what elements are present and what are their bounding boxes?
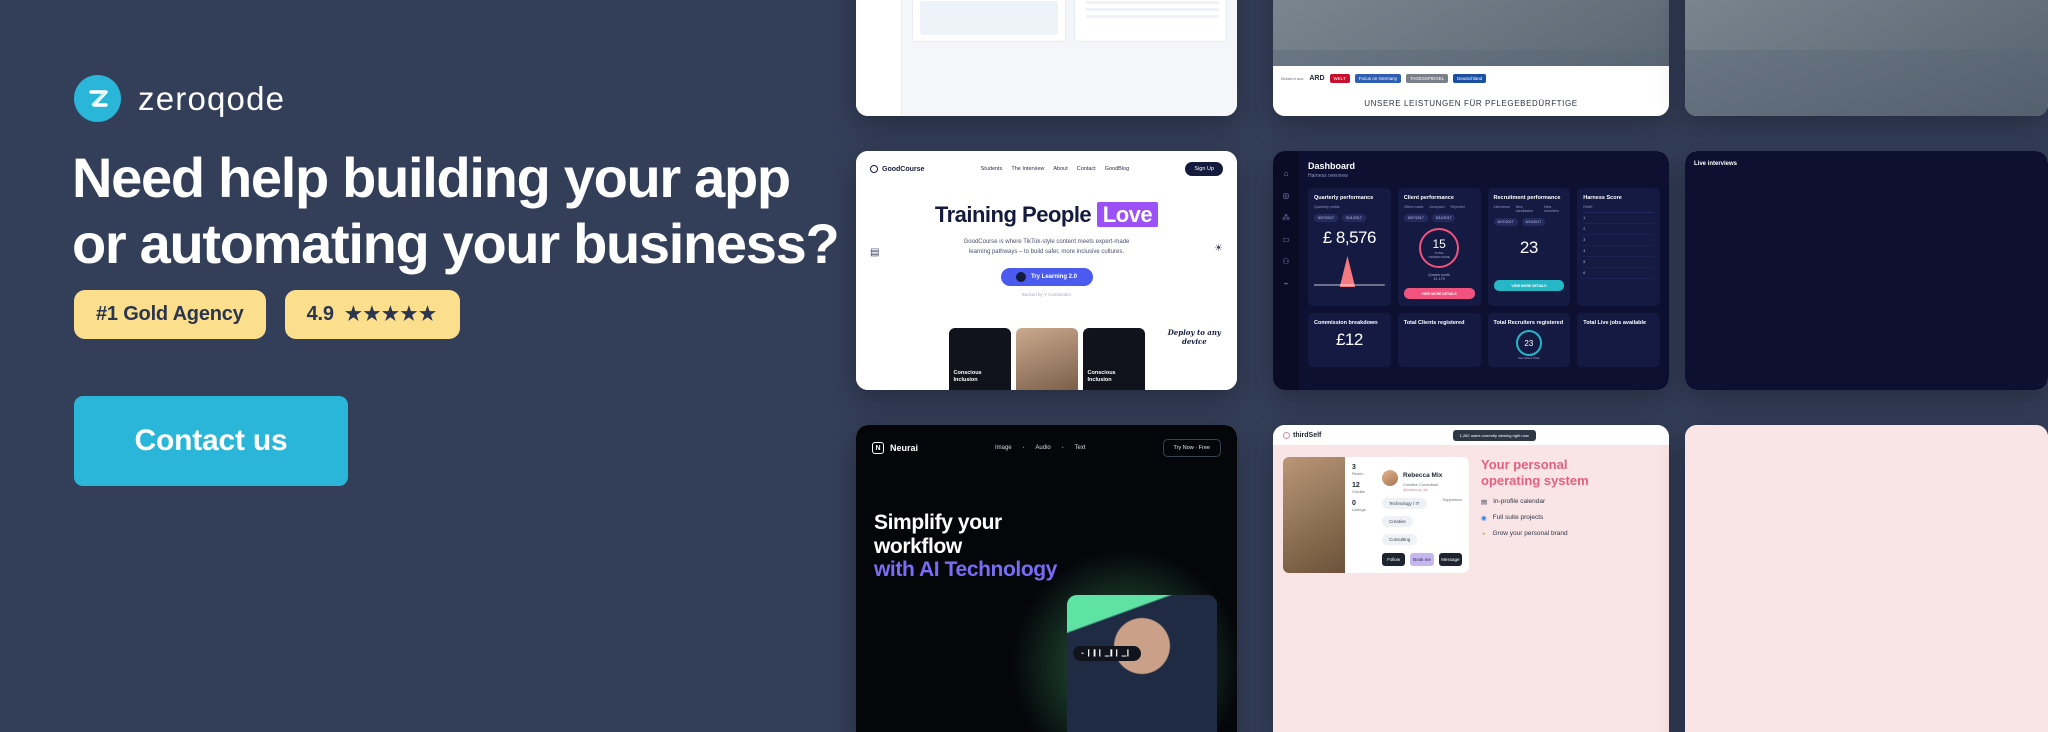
- thirdself-navbar: thirdSelf 1,262 users currently viewing …: [1273, 425, 1669, 445]
- profile-photo: [1283, 457, 1345, 573]
- showcase-card-middle-right-extra[interactable]: Live interviews: [1685, 151, 2048, 390]
- thirdself-headline-line-1: Your personal: [1481, 457, 1659, 473]
- offers-made-ring: 15 TOTAL OFFERS MADE: [1419, 228, 1459, 268]
- thirdself-brand-label: thirdSelf: [1293, 432, 1321, 439]
- feature-brand-label: Grow your personal brand: [1492, 530, 1567, 537]
- table-row: [1082, 15, 1220, 18]
- book-me-button[interactable]: Book me: [1410, 553, 1433, 566]
- neurai-portrait: [1067, 595, 1217, 732]
- quarterly-value: £ 8,576: [1314, 228, 1385, 248]
- neurai-brand-label: Neurai: [890, 443, 918, 453]
- nav-item-audio[interactable]: Audio: [1035, 445, 1050, 451]
- feature-projects-label: Full suite projects: [1493, 514, 1544, 521]
- badge-rating[interactable]: 4.9 ★★★★★: [285, 290, 460, 339]
- message-button[interactable]: Message: [1439, 553, 1462, 566]
- press-chip: WELT: [1330, 74, 1350, 83]
- transactions-chart: [920, 1, 1058, 35]
- press-chip: Focus on Germany: [1355, 74, 1401, 83]
- supporters-label: Supporters: [1442, 497, 1462, 502]
- neurai-nav-links: Image • Audio • Text: [995, 445, 1086, 451]
- showcase-card-goodcourse[interactable]: GoodCourse Students The Interview About …: [856, 151, 1237, 390]
- thirdself-logo-icon: [1283, 432, 1290, 439]
- harness-title: Dashboard: [1308, 161, 1660, 171]
- feature-brand: ✦ Grow your personal brand: [1481, 530, 1659, 538]
- panel-client-performance: Client performance Offers made Accepted …: [1398, 188, 1481, 306]
- showcase-card-harness[interactable]: ⌂ ◎ ⁂ ▭ ⚇ ⌁ Dashboard Harness overview Q…: [1273, 151, 1669, 390]
- network-icon[interactable]: ⁂: [1282, 213, 1290, 222]
- table-row: 3: [1583, 235, 1654, 246]
- zeroqode-logo-icon: [74, 75, 121, 122]
- headline-line-2: or automating your business?: [72, 216, 852, 272]
- hero-left-panel: zeroqode Need help building your app or …: [0, 0, 856, 732]
- neurai-site: N Neurai Image • Audio • Text Try Now · …: [856, 425, 1237, 732]
- ard-logo-icon: ARD: [1309, 75, 1324, 82]
- neurai-headline-line-3: with AI Technology: [874, 558, 1057, 582]
- panel-recruitment-performance: Recruitment performance Interviews New c…: [1488, 188, 1571, 306]
- tab-new-recruiters[interactable]: New recruiters: [1544, 205, 1564, 213]
- annotation-personalise-line-2: any course: [872, 159, 1237, 167]
- neurai-logo-icon: N: [872, 442, 884, 454]
- page-title: Need help building your app or automatin…: [72, 150, 852, 272]
- total-recruiters-sub: Recruiters Total: [1494, 356, 1565, 360]
- total-clients-title: Total Clients registered: [1404, 320, 1475, 326]
- tab-interviews[interactable]: Interviews: [1494, 205, 1510, 213]
- tab-offers-made[interactable]: Offers made: [1404, 205, 1424, 209]
- profile-stats: 3 Reach 12 Credits 0 Listings: [1352, 464, 1376, 512]
- showcase-card-crypto[interactable]: Overview Wallets Markets News More Asset…: [856, 0, 1237, 116]
- profile-name: Rebecca Mix: [1403, 472, 1442, 479]
- tab-new-candidates[interactable]: New candidates: [1516, 205, 1538, 213]
- thirdself-body: 3 Reach 12 Credits 0 Listings: [1273, 445, 1669, 585]
- nav-separator-icon: •: [1062, 445, 1064, 451]
- feature-calendar: ▤ In-profile calendar: [1481, 498, 1659, 506]
- quarter-worth-value: £1,175: [1404, 277, 1475, 281]
- thirdself-headline: Your personal operating system: [1481, 457, 1659, 490]
- stat-listings-value: 0: [1352, 500, 1376, 507]
- briefcase-icon[interactable]: ▭: [1282, 235, 1290, 244]
- total-recruiters-title: Total Recruiters registered: [1494, 320, 1565, 326]
- client-view-more-button[interactable]: VIEW MORE DETAILS: [1404, 288, 1475, 299]
- people-icon[interactable]: ⚇: [1282, 257, 1289, 266]
- table-row: [1082, 1, 1220, 4]
- annotation-personalise-line-1: Personalise: [872, 151, 1237, 159]
- quarterly-peak-chart: [1314, 253, 1385, 287]
- harness-main: Dashboard Harness overview Quarterly per…: [1299, 151, 1669, 390]
- tab-quarterly-profits[interactable]: Quarterly profits: [1314, 205, 1340, 209]
- neurai-headline: Simplify your workflow with AI Technolog…: [874, 511, 1057, 582]
- panel-commission-breakdown: Commission breakdown £12: [1308, 313, 1391, 367]
- commission-breakdown-title: Commission breakdown: [1314, 320, 1385, 326]
- press-logo-strip: Bekannt aus: ARD WELT Focus on Germany T…: [1273, 66, 1669, 90]
- nav-item-text[interactable]: Text: [1075, 445, 1086, 451]
- panel-harness-score: Harness Score RANK 1 2 3 4 5 6: [1577, 188, 1660, 306]
- spiral-icon: ◉: [1481, 514, 1487, 522]
- rank-value: 3: [1583, 238, 1585, 242]
- profile-info: 3 Reach 12 Credits 0 Listings: [1345, 457, 1469, 573]
- thirdself-site: thirdSelf 1,262 users currently viewing …: [1273, 425, 1669, 732]
- profile-card: 3 Reach 12 Credits 0 Listings: [1283, 457, 1469, 573]
- care-site-secondary: [1685, 0, 2048, 116]
- rank-column-header: RANK: [1583, 205, 1654, 213]
- table-row: 1: [1583, 213, 1654, 224]
- neurai-brand[interactable]: N Neurai: [872, 442, 918, 454]
- date-from-recruitment[interactable]: 5/07/2017: [1494, 218, 1518, 226]
- offers-made-value: 15: [1432, 237, 1445, 251]
- harness-sidebar: ⌂ ◎ ⁂ ▭ ⚇ ⌁: [1273, 151, 1299, 390]
- panel-total-recruiters: Total Recruiters registered 23 Recruiter…: [1488, 313, 1571, 367]
- neurai-headline-line-1: Simplify your: [874, 511, 1057, 535]
- stat-reach-label: Reach: [1352, 471, 1364, 476]
- feature-projects: ◉ Full suite projects: [1481, 514, 1659, 522]
- care-caption: UNSERE LEISTUNGEN FÜR PFLEGEBEDÜRFTIGE: [1273, 90, 1669, 116]
- stat-credits-label: Credits: [1352, 489, 1365, 494]
- rank-value: 6: [1583, 271, 1585, 275]
- try-now-free-button[interactable]: Try Now · Free: [1163, 439, 1221, 457]
- nav-item-image[interactable]: Image: [995, 445, 1012, 451]
- showcase-card-care[interactable]: Bekannt aus: ARD WELT Focus on Germany T…: [1273, 0, 1669, 116]
- panel-quarterly-title: Quarterly performance: [1314, 195, 1385, 201]
- profile-actions: Follow Book me Message: [1382, 553, 1462, 566]
- recruitment-view-more-button[interactable]: VIEW MORE DETAILS: [1494, 280, 1565, 291]
- tab-accepted[interactable]: Accepted: [1429, 205, 1444, 209]
- thirdself-brand[interactable]: thirdSelf: [1283, 432, 1321, 439]
- crypto-dashboard: Overview Wallets Markets News More Asset…: [856, 0, 1237, 116]
- stat-listings-label: Listings: [1352, 507, 1366, 512]
- home-icon[interactable]: ⌂: [1284, 169, 1289, 178]
- crypto-panel-momentum: Momentum sections: [1074, 0, 1228, 42]
- avatar: [1382, 470, 1398, 486]
- date-to-recruitment[interactable]: 5/11/2017: [1522, 218, 1546, 226]
- date-from-client[interactable]: 5/07/2017: [1404, 214, 1428, 222]
- tag-consulting[interactable]: Consulting: [1382, 534, 1417, 545]
- showcase-card-top-right-extra[interactable]: [1685, 0, 2048, 116]
- date-from-quarterly[interactable]: 5/07/2017: [1314, 214, 1338, 222]
- commission-breakdown-value: £12: [1314, 330, 1385, 350]
- contact-us-button[interactable]: Contact us: [74, 396, 348, 486]
- neurai-navbar: N Neurai Image • Audio • Text Try Now · …: [856, 425, 1237, 457]
- press-chip: Deutschland: [1453, 74, 1486, 83]
- calendar-icon: ▤: [1481, 498, 1487, 506]
- neurai-headline-line-2: workflow: [874, 535, 1057, 559]
- table-row: 4: [1583, 246, 1654, 257]
- panel-recruitment-title: Recruitment performance: [1494, 195, 1565, 201]
- harness-continued-main: Live interviews: [1685, 151, 2048, 390]
- panel-harness-score-title: Harness Score: [1583, 195, 1654, 201]
- tag-technology[interactable]: Technology / IT: [1382, 498, 1427, 509]
- table-row: 2: [1583, 224, 1654, 235]
- rank-value: 5: [1583, 260, 1585, 264]
- care-hero-photo: [1273, 0, 1669, 50]
- thirdself-headline-line-2: operating system: [1481, 473, 1659, 489]
- crypto-panel-transactions: Latest transactions: [912, 0, 1066, 42]
- offers-made-label-2: OFFERS MADE: [1428, 255, 1450, 259]
- goodcourse-site: GoodCourse Students The Interview About …: [856, 151, 1237, 390]
- total-live-jobs-title: Total Live jobs available: [1583, 320, 1654, 326]
- tab-rejected[interactable]: Rejected: [1450, 205, 1464, 209]
- live-viewers-banner: 1,262 users currently viewing right now: [1453, 430, 1536, 441]
- harness-panels: Quarterly performance Quarterly profits …: [1308, 188, 1660, 306]
- panel-quarterly-performance: Quarterly performance Quarterly profits …: [1308, 188, 1391, 306]
- target-icon[interactable]: ◎: [1283, 191, 1290, 200]
- brand-logo[interactable]: zeroqode: [74, 75, 285, 122]
- hero-page: zeroqode Need help building your app or …: [0, 0, 2048, 732]
- tag-creative[interactable]: Creative: [1382, 516, 1413, 527]
- table-row: [1082, 8, 1220, 11]
- panel-total-clients: Total Clients registered: [1398, 313, 1481, 367]
- star-rating-icon: ★★★★★: [345, 303, 438, 326]
- crypto-sidebar: Overview Wallets Markets News More: [856, 0, 902, 116]
- chart-icon[interactable]: ⌁: [1284, 279, 1289, 288]
- date-to-quarterly[interactable]: 5/11/2017: [1342, 214, 1366, 222]
- care-site: Bekannt aus: ARD WELT Focus on Germany T…: [1273, 0, 1669, 116]
- table-row: 5: [1583, 257, 1654, 268]
- harness-dashboard: ⌂ ◎ ⁂ ▭ ⚇ ⌁ Dashboard Harness overview Q…: [1273, 151, 1669, 390]
- press-chip: TAGESSPIEGEL: [1406, 74, 1448, 83]
- showcase-grid: Overview Wallets Markets News More Asset…: [856, 0, 2048, 732]
- thirdself-site-continued: [1685, 425, 2048, 732]
- crypto-main: Assets Matic $0.47 BTC $2.4 ETH: [902, 0, 1237, 116]
- thirdself-copy: Your personal operating system ▤ In-prof…: [1481, 457, 1659, 573]
- table-row: 6: [1583, 268, 1654, 279]
- rank-value: 1: [1583, 216, 1585, 220]
- badge-rating-value: 4.9: [307, 303, 334, 326]
- recruitment-value: 23: [1494, 238, 1565, 258]
- care-hero-photo-secondary: [1685, 0, 2048, 50]
- stat-credits-value: 12: [1352, 482, 1376, 489]
- live-interviews-title: Live interviews: [1694, 161, 2039, 167]
- total-recruiters-value: 23: [1524, 339, 1533, 348]
- harness-dashboard-continued: Live interviews: [1685, 151, 2048, 390]
- nav-separator-icon: •: [1023, 445, 1025, 451]
- follow-button[interactable]: Follow: [1382, 553, 1405, 566]
- stat-reach-value: 3: [1352, 464, 1376, 471]
- rank-value: 2: [1583, 227, 1585, 231]
- annotation-personalise: Personalise any course: [872, 151, 1237, 390]
- rank-value: 4: [1583, 249, 1585, 253]
- known-from-label: Bekannt aus:: [1281, 76, 1304, 81]
- date-to-client[interactable]: 5/11/2017: [1432, 214, 1456, 222]
- feature-calendar-label: In-profile calendar: [1493, 498, 1545, 505]
- headline-line-1: Need help building your app: [72, 146, 790, 209]
- waveform-icon: ⌁ ▎▍▎▁▍▎▁▎: [1073, 646, 1141, 661]
- brand-name: zeroqode: [138, 82, 285, 115]
- contact-us-label: Contact us: [134, 424, 287, 458]
- showcase-card-neurai[interactable]: N Neurai Image • Audio • Text Try Now · …: [856, 425, 1237, 732]
- panel-total-live-jobs: Total Live jobs available: [1577, 313, 1660, 367]
- panel-client-title: Client performance: [1404, 195, 1475, 201]
- showcase-card-bottom-right-extra[interactable]: [1685, 425, 2048, 732]
- badge-gold-agency-label: #1 Gold Agency: [96, 303, 244, 326]
- badge-group: #1 Gold Agency 4.9 ★★★★★: [74, 290, 460, 339]
- harness-subtitle: Harness overview: [1308, 173, 1660, 179]
- sparkle-icon: ✦: [1481, 530, 1486, 538]
- badge-gold-agency[interactable]: #1 Gold Agency: [74, 290, 266, 339]
- showcase-card-thirdself[interactable]: thirdSelf 1,262 users currently viewing …: [1273, 425, 1669, 732]
